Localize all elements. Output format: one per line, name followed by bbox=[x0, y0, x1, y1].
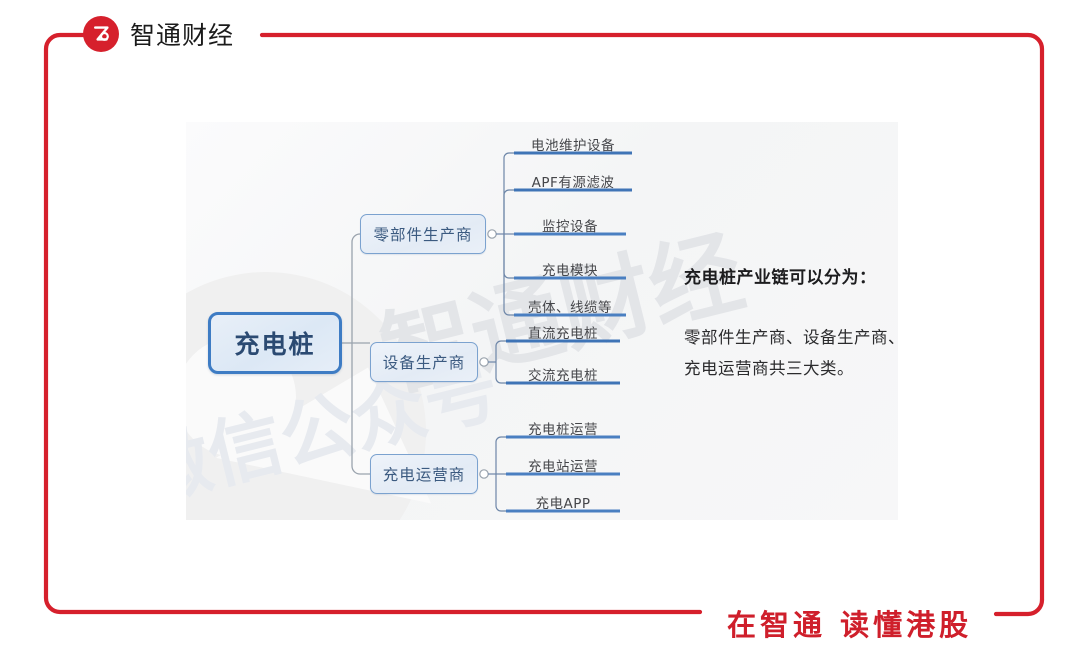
mindmap-leaf-node[interactable]: 电池维护设备 bbox=[514, 134, 632, 154]
branch-1-connector-dot bbox=[488, 230, 496, 238]
mindmap-leaf-node[interactable]: 壳体、线缆等 bbox=[514, 296, 626, 316]
footer-slogan: 在智通 读懂港股 bbox=[727, 602, 972, 644]
mindmap-root-node[interactable]: 充电桩 bbox=[208, 312, 342, 374]
brand-name: 智通财经 bbox=[130, 16, 234, 52]
brand-header: 智通财经 bbox=[83, 16, 234, 52]
description-line-1: 零部件生产商、设备生产商、 bbox=[684, 322, 964, 353]
description-title: 充电桩产业链可以分为： bbox=[684, 263, 964, 288]
mindmap-leaf-node[interactable]: 监控设备 bbox=[514, 215, 626, 235]
mindmap-leaf-node[interactable]: 充电站运营 bbox=[506, 455, 620, 475]
mindmap-leaf-node[interactable]: APF有源滤波 bbox=[514, 171, 632, 191]
mindmap-branch-node-parts-manufacturer[interactable]: 零部件生产商 bbox=[360, 214, 486, 254]
mindmap-leaf-node[interactable]: 直流充电桩 bbox=[506, 322, 620, 342]
screenshot-root: 智通财经 在智通 读懂港股 智通财经 微信公众号 bbox=[0, 0, 1080, 647]
mindmap-leaf-node[interactable]: 充电模块 bbox=[514, 259, 626, 279]
mindmap-branch-node-equipment-manufacturer[interactable]: 设备生产商 bbox=[370, 342, 478, 382]
description-line-2: 充电运营商共三大类。 bbox=[684, 353, 964, 384]
zhitong-circle-logo-icon bbox=[83, 16, 119, 52]
logo-glyph-icon bbox=[89, 22, 113, 46]
branch-2-connector-dot bbox=[480, 358, 488, 366]
mindmap-leaf-node[interactable]: 交流充电桩 bbox=[506, 364, 620, 384]
branch-3-connector-dot bbox=[480, 470, 488, 478]
mindmap-leaf-node[interactable]: 充电桩运营 bbox=[506, 418, 620, 438]
mindmap-leaf-node[interactable]: 充电APP bbox=[506, 492, 620, 512]
description-block: 充电桩产业链可以分为： 零部件生产商、设备生产商、 充电运营商共三大类。 bbox=[684, 263, 964, 384]
description-body: 零部件生产商、设备生产商、 充电运营商共三大类。 bbox=[684, 322, 964, 384]
mindmap-branch-node-charging-operator[interactable]: 充电运营商 bbox=[370, 454, 478, 494]
